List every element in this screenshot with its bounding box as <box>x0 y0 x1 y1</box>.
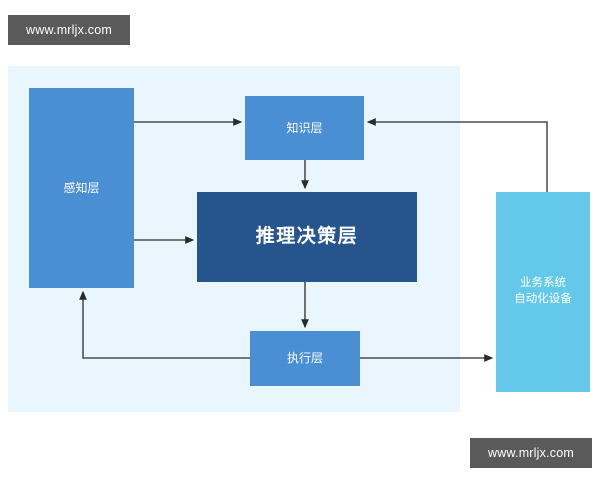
diagram-canvas: 感知层 知识层 推理决策层 执行层 业务系统 自动化设备 www.mrljx.c… <box>0 0 600 480</box>
node-perception-layer[interactable]: 感知层 <box>29 88 134 288</box>
node-external-systems-label: 业务系统 自动化设备 <box>514 276 572 307</box>
node-execution-layer[interactable]: 执行层 <box>250 331 360 386</box>
watermark-top-left-text: www.mrljx.com <box>26 23 112 37</box>
node-reasoning-decision-layer[interactable]: 推理决策层 <box>197 192 417 282</box>
watermark-bottom-right-text: www.mrljx.com <box>488 446 574 460</box>
node-knowledge-layer-label: 知识层 <box>286 120 322 136</box>
node-execution-layer-label: 执行层 <box>287 350 323 366</box>
watermark-bottom-right: www.mrljx.com <box>470 438 592 468</box>
node-knowledge-layer[interactable]: 知识层 <box>245 96 364 160</box>
node-reasoning-decision-layer-label: 推理决策层 <box>256 224 359 250</box>
node-perception-layer-label: 感知层 <box>63 180 99 196</box>
watermark-top-left: www.mrljx.com <box>8 15 130 45</box>
node-external-systems[interactable]: 业务系统 自动化设备 <box>496 192 590 392</box>
